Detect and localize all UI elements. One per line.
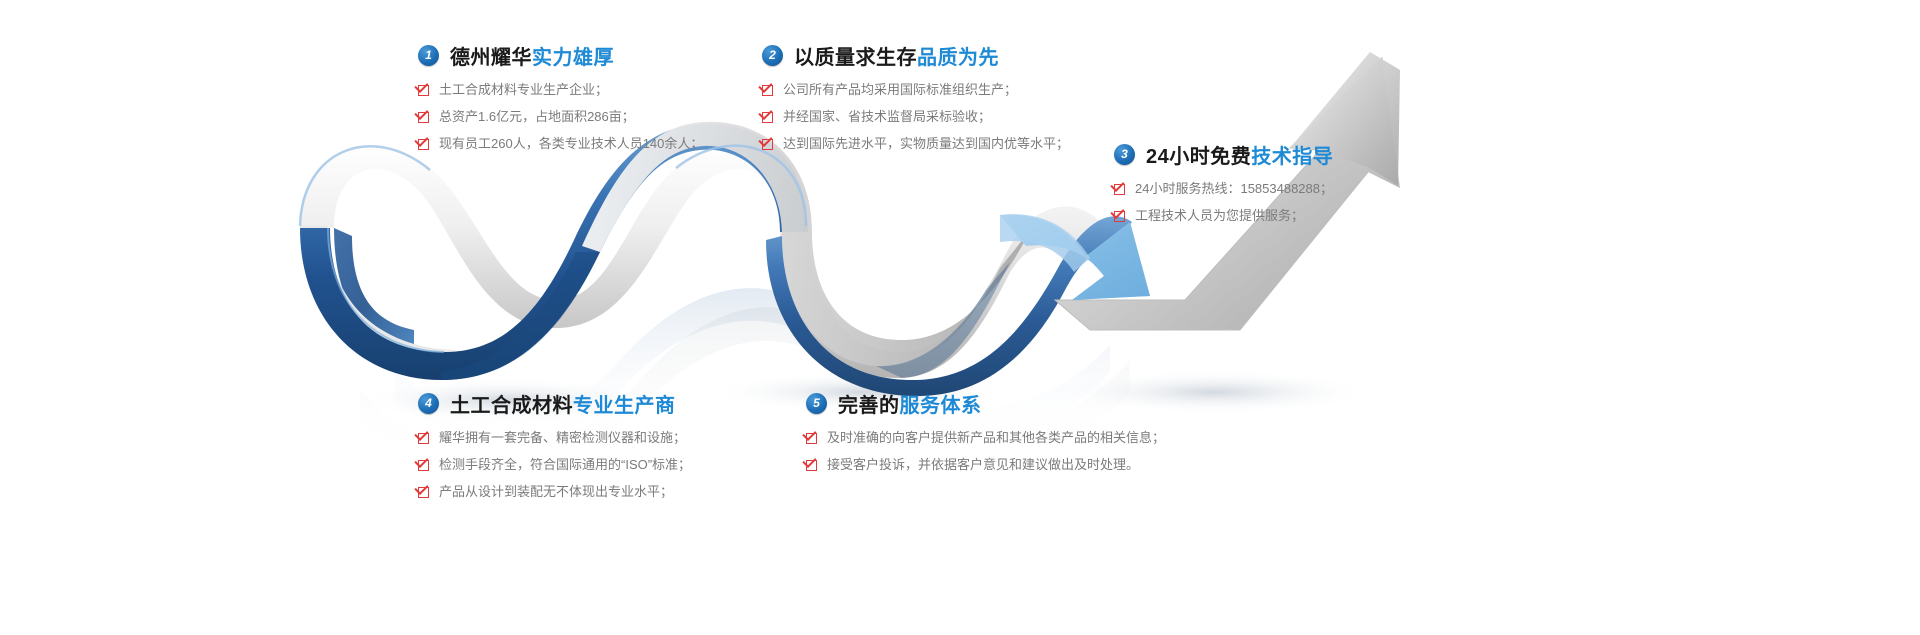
list-item: 检测手段齐全，符合国际通用的“ISO”标准； <box>418 456 691 474</box>
check-icon <box>418 460 429 471</box>
list-item: 接受客户投诉，并依据客户意见和建议做出及时处理。 <box>806 456 1165 474</box>
feature-4-heading: 4 土工合成材料 专业生产商 <box>418 389 691 418</box>
feature-5-number-badge: 5 <box>806 393 827 414</box>
promo-banner: 1 德州耀华 实力雄厚 土工合成材料专业生产企业； 总资产1.6亿元，占地面积2… <box>0 0 1920 635</box>
bullet-text: 公司所有产品均采用国际标准组织生产； <box>783 81 1017 99</box>
check-icon <box>418 112 429 123</box>
check-icon <box>762 112 773 123</box>
feature-2-title-accent: 品质为先 <box>917 41 999 70</box>
feature-block-5: 5 完善的 服务体系 及时准确的向客户提供新产品和其他各类产品的相关信息； 接受… <box>806 389 1165 483</box>
list-item: 耀华拥有一套完备、精密检测仪器和设施； <box>418 429 691 447</box>
feature-block-4: 4 土工合成材料 专业生产商 耀华拥有一套完备、精密检测仪器和设施； 检测手段齐… <box>418 389 691 510</box>
feature-2-number-badge: 2 <box>762 45 783 66</box>
bullet-text: 工程技术人员为您提供服务； <box>1135 207 1304 225</box>
service-hotline-text: 24小时服务热线：15853488288； <box>1135 180 1333 198</box>
list-item: 工程技术人员为您提供服务； <box>1114 207 1333 225</box>
feature-1-title-accent: 实力雄厚 <box>532 41 614 70</box>
bullet-text: 接受客户投诉，并依据客户意见和建议做出及时处理。 <box>827 456 1139 474</box>
feature-2-heading: 2 以质量求生存 品质为先 <box>762 41 1069 70</box>
feature-3-title-accent: 技术指导 <box>1251 140 1333 169</box>
feature-3-bullet-list: 24小时服务热线：15853488288； 工程技术人员为您提供服务； <box>1114 180 1333 225</box>
feature-block-2: 2 以质量求生存 品质为先 公司所有产品均采用国际标准组织生产； 并经国家、省技… <box>762 41 1069 162</box>
feature-1-number-badge: 1 <box>418 45 439 66</box>
feature-3-title-dark: 24小时免费 <box>1146 140 1251 169</box>
feature-5-title-accent: 服务体系 <box>900 389 982 418</box>
feature-2-bullet-list: 公司所有产品均采用国际标准组织生产； 并经国家、省技术监督局采标验收； 达到国际… <box>762 81 1069 153</box>
check-icon <box>806 433 817 444</box>
list-item: 产品从设计到装配无不体现出专业水平； <box>418 483 691 501</box>
bullet-text: 现有员工260人，各类专业技术人员140余人； <box>439 135 703 153</box>
feature-3-heading: 3 24小时免费 技术指导 <box>1114 140 1333 169</box>
list-item: 并经国家、省技术监督局采标验收； <box>762 108 1069 126</box>
bullet-text: 产品从设计到装配无不体现出专业水平； <box>439 483 673 501</box>
feature-1-bullet-list: 土工合成材料专业生产企业； 总资产1.6亿元，占地面积286亩； 现有员工260… <box>418 81 703 153</box>
feature-3-number-badge: 3 <box>1114 144 1135 165</box>
list-item: 现有员工260人，各类专业技术人员140余人； <box>418 135 703 153</box>
check-icon <box>418 85 429 96</box>
check-icon <box>418 433 429 444</box>
feature-1-title-dark: 德州耀华 <box>450 41 532 70</box>
feature-4-bullet-list: 耀华拥有一套完备、精密检测仪器和设施； 检测手段齐全，符合国际通用的“ISO”标… <box>418 429 691 501</box>
feature-5-title-dark: 完善的 <box>838 389 900 418</box>
bullet-text: 土工合成材料专业生产企业； <box>439 81 608 99</box>
feature-block-3: 3 24小时免费 技术指导 24小时服务热线：15853488288； 工程技术… <box>1114 140 1333 234</box>
check-icon <box>806 460 817 471</box>
bullet-text: 并经国家、省技术监督局采标验收； <box>783 108 991 126</box>
list-item: 及时准确的向客户提供新产品和其他各类产品的相关信息； <box>806 429 1165 447</box>
bullet-text: 总资产1.6亿元，占地面积286亩； <box>439 108 635 126</box>
list-item: 公司所有产品均采用国际标准组织生产； <box>762 81 1069 99</box>
check-icon <box>1114 211 1125 222</box>
check-icon <box>762 85 773 96</box>
list-item: 土工合成材料专业生产企业； <box>418 81 703 99</box>
feature-4-number-badge: 4 <box>418 393 439 414</box>
check-icon <box>762 139 773 150</box>
list-item: 总资产1.6亿元，占地面积286亩； <box>418 108 703 126</box>
bullet-text: 耀华拥有一套完备、精密检测仪器和设施； <box>439 429 686 447</box>
list-item: 24小时服务热线：15853488288； <box>1114 180 1333 198</box>
feature-1-heading: 1 德州耀华 实力雄厚 <box>418 41 703 70</box>
check-icon <box>418 139 429 150</box>
feature-4-title-accent: 专业生产商 <box>573 389 676 418</box>
bullet-text: 达到国际先进水平，实物质量达到国内优等水平； <box>783 135 1069 153</box>
bullet-text: 及时准确的向客户提供新产品和其他各类产品的相关信息； <box>827 429 1165 447</box>
bullet-text: 检测手段齐全，符合国际通用的“ISO”标准； <box>439 456 691 474</box>
feature-block-1: 1 德州耀华 实力雄厚 土工合成材料专业生产企业； 总资产1.6亿元，占地面积2… <box>418 41 703 162</box>
feature-4-title-dark: 土工合成材料 <box>450 389 573 418</box>
feature-5-bullet-list: 及时准确的向客户提供新产品和其他各类产品的相关信息； 接受客户投诉，并依据客户意… <box>806 429 1165 474</box>
feature-2-title-dark: 以质量求生存 <box>794 41 917 70</box>
check-icon <box>1114 184 1125 195</box>
feature-5-heading: 5 完善的 服务体系 <box>806 389 1165 418</box>
list-item: 达到国际先进水平，实物质量达到国内优等水平； <box>762 135 1069 153</box>
check-icon <box>418 487 429 498</box>
